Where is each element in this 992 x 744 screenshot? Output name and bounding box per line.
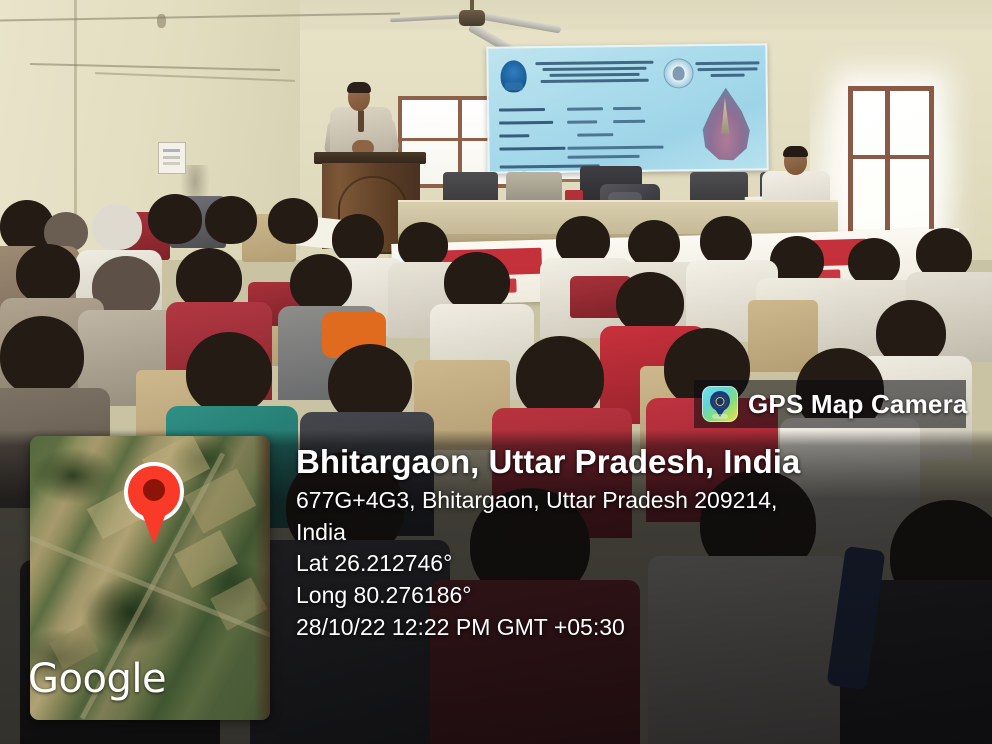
pin-center-dot <box>143 479 165 501</box>
audience-head <box>616 272 684 334</box>
audience-head <box>290 254 352 312</box>
google-watermark: Google <box>30 656 166 702</box>
banner-field-value <box>613 120 645 123</box>
app-name-label: GPS Map Camera <box>748 389 968 420</box>
banner-field-label <box>499 134 529 137</box>
audience-head <box>0 316 84 396</box>
audience-head <box>92 204 142 250</box>
official-hair <box>783 146 808 157</box>
pin-tip <box>136 498 172 544</box>
banner-field-value <box>577 133 613 136</box>
timestamp-label: 28/10/22 12:22 PM GMT +05:30 <box>296 612 936 644</box>
wall-corner-edge <box>74 0 77 232</box>
audience-head <box>848 238 900 286</box>
place-title: Bhitargaon, Uttar Pradesh, India <box>296 444 936 481</box>
wall-notice-icon <box>158 142 186 174</box>
audience-head <box>332 214 384 264</box>
water-drop-graphic <box>698 87 755 162</box>
longitude-label: Long 80.276186° <box>296 580 936 612</box>
speaker-hair <box>347 82 371 93</box>
banner-field-label <box>499 121 553 125</box>
screenshot-root: GPS Map Camera Google Bhitargaon, Uttar … <box>0 0 992 744</box>
audience-head <box>148 194 202 244</box>
audience-head <box>700 216 752 266</box>
event-banner <box>486 43 769 173</box>
banner-right-title-text <box>695 61 759 80</box>
audience-head <box>628 220 680 268</box>
audience-head <box>205 196 257 244</box>
banner-field-value <box>567 107 603 110</box>
audience-head <box>176 248 242 310</box>
map-pin-icon <box>124 462 184 544</box>
banner-field-value <box>613 107 641 110</box>
banner-title-text <box>535 61 653 86</box>
audience-head <box>444 252 510 312</box>
banner-field-value <box>568 155 640 159</box>
banner-field-value <box>567 120 597 123</box>
address-line-1: 677G+4G3, Bhitargaon, Uttar Pradesh 2092… <box>296 485 936 517</box>
banner-field-label <box>499 147 565 151</box>
gps-map-camera-logo-icon <box>702 386 738 422</box>
gps-map-camera-badge: GPS Map Camera <box>694 380 966 428</box>
map-edge-shadow <box>254 436 270 720</box>
map-thumbnail[interactable]: Google <box>30 436 270 720</box>
banner-field-label <box>499 108 545 112</box>
right-window <box>848 86 934 248</box>
audience-head <box>186 332 272 414</box>
pin-shadow <box>712 414 728 419</box>
audience-head <box>268 198 318 244</box>
camera-lens-center <box>717 398 724 405</box>
ceiling-fan-icon <box>459 10 485 26</box>
banner-field-value <box>567 146 663 150</box>
latitude-label: Lat 26.212746° <box>296 548 936 580</box>
address-line-2: India <box>296 517 936 549</box>
audience-head <box>16 244 80 304</box>
government-emblem-icon <box>663 58 693 88</box>
speaker-tie <box>358 110 364 132</box>
location-info-block: Bhitargaon, Uttar Pradesh, India 677G+4G… <box>296 444 936 644</box>
jal-jeevan-logo-icon <box>500 60 526 92</box>
